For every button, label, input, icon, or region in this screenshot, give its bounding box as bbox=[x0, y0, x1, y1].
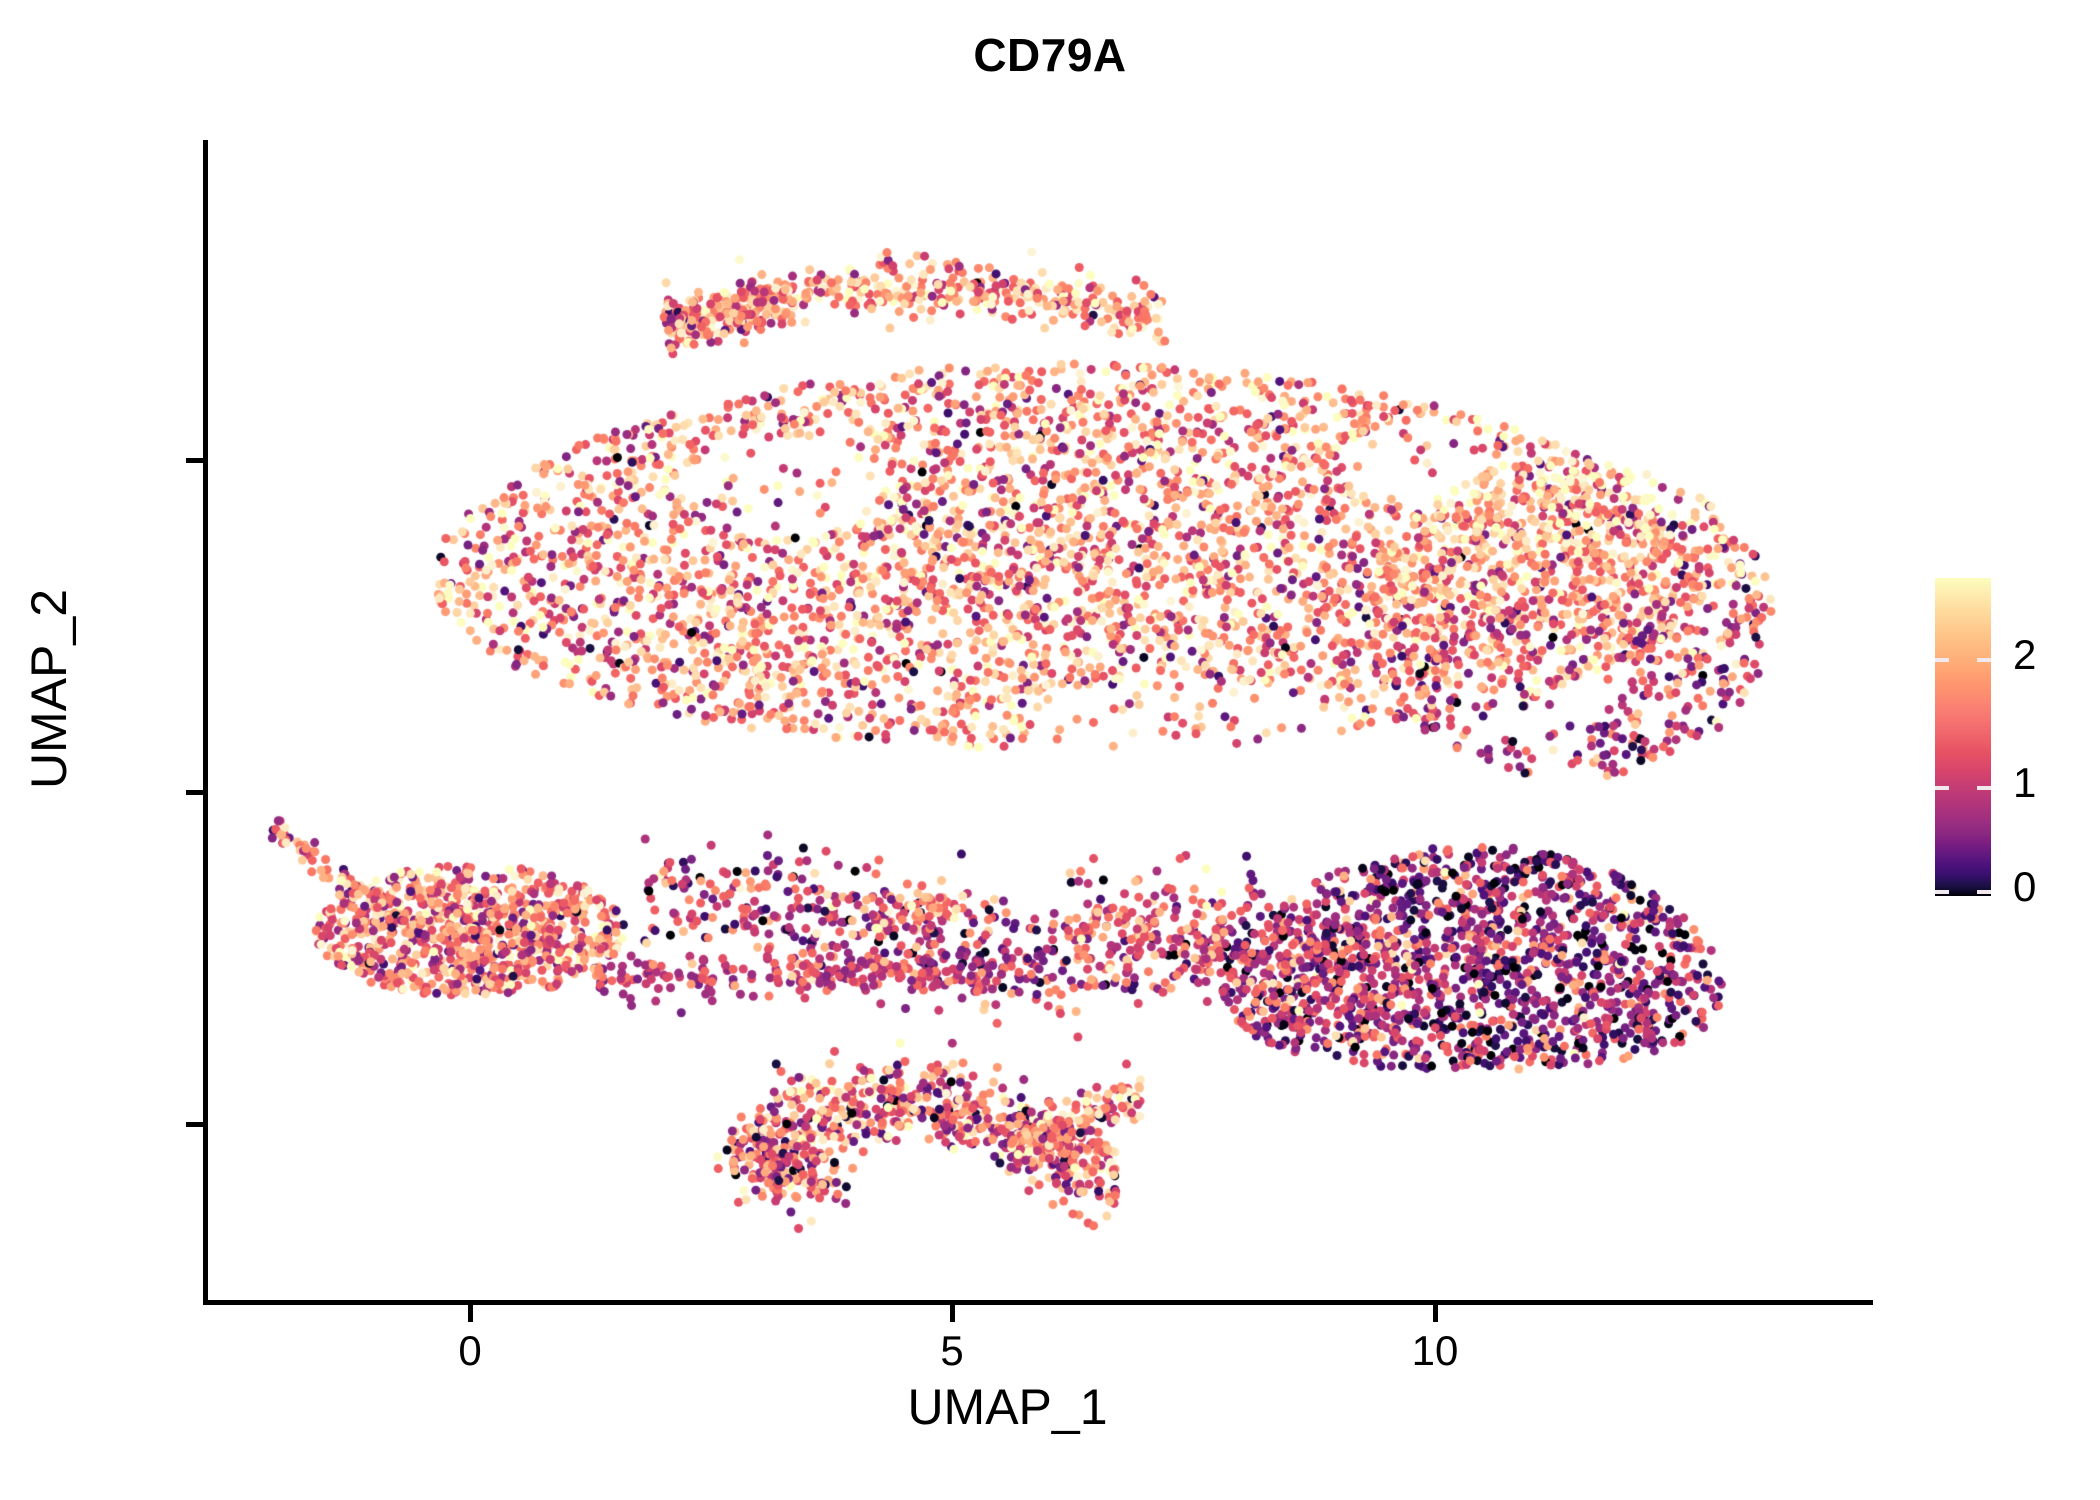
x-tick-label: 0 bbox=[400, 1327, 540, 1375]
colorbar-tick bbox=[1977, 786, 1991, 790]
x-tick-mark bbox=[1433, 1305, 1438, 1322]
colorbar-tick-label: 1 bbox=[2013, 759, 2036, 807]
colorbar-tick-label: 0 bbox=[2013, 863, 2036, 911]
y-tick-mark bbox=[186, 1122, 203, 1127]
colorbar-tick bbox=[1977, 658, 1991, 662]
colorbar-tick bbox=[1977, 890, 1991, 894]
scatter-points bbox=[205, 140, 1873, 1302]
x-tick-label: 5 bbox=[882, 1327, 1022, 1375]
page-title: CD79A bbox=[0, 28, 2100, 82]
chart-canvas: { "chart_data": { "type": "scatter", "ti… bbox=[0, 0, 2100, 1500]
y-axis-label: UMAP_2 bbox=[20, 519, 78, 859]
y-tick-mark bbox=[186, 790, 203, 795]
x-tick-mark bbox=[468, 1305, 473, 1322]
colorbar-tick bbox=[1935, 658, 1949, 662]
plot-area bbox=[205, 140, 1873, 1302]
x-tick-label: 10 bbox=[1365, 1327, 1505, 1375]
x-tick-mark bbox=[950, 1305, 955, 1322]
colorbar-tick-label: 2 bbox=[2013, 631, 2036, 679]
colorbar-tick bbox=[1935, 890, 1949, 894]
colorbar-tick bbox=[1935, 786, 1949, 790]
x-axis-label: UMAP_1 bbox=[0, 1378, 2015, 1436]
y-tick-mark bbox=[186, 458, 203, 463]
colorbar-gradient bbox=[1935, 578, 1991, 896]
